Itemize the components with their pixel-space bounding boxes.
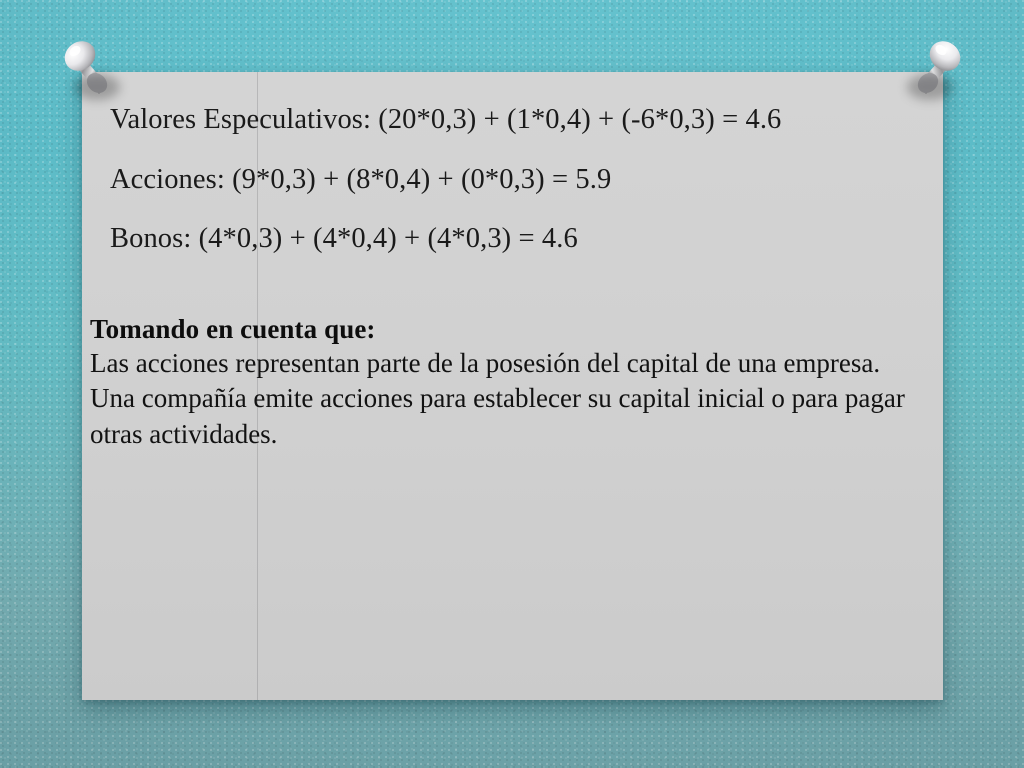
equation-line-valores-especulativos: Valores Especulativos: (20*0,3) + (1*0,4… xyxy=(110,106,909,135)
body-paragraph: Las acciones representan parte de la pos… xyxy=(90,346,909,451)
equation-line-bonos: Bonos: (4*0,3) + (4*0,4) + (4*0,3) = 4.6 xyxy=(110,225,909,254)
slide-stage: Valores Especulativos: (20*0,3) + (1*0,4… xyxy=(0,0,1024,768)
card-content: Valores Especulativos: (20*0,3) + (1*0,4… xyxy=(82,72,943,700)
body-heading: Tomando en cuenta que: xyxy=(90,314,909,346)
equation-list: Valores Especulativos: (20*0,3) + (1*0,4… xyxy=(110,106,909,254)
equation-line-acciones: Acciones: (9*0,3) + (8*0,4) + (0*0,3) = … xyxy=(110,166,909,195)
content-card: Valores Especulativos: (20*0,3) + (1*0,4… xyxy=(82,72,943,700)
body-block: Tomando en cuenta que: Las acciones repr… xyxy=(110,314,909,452)
